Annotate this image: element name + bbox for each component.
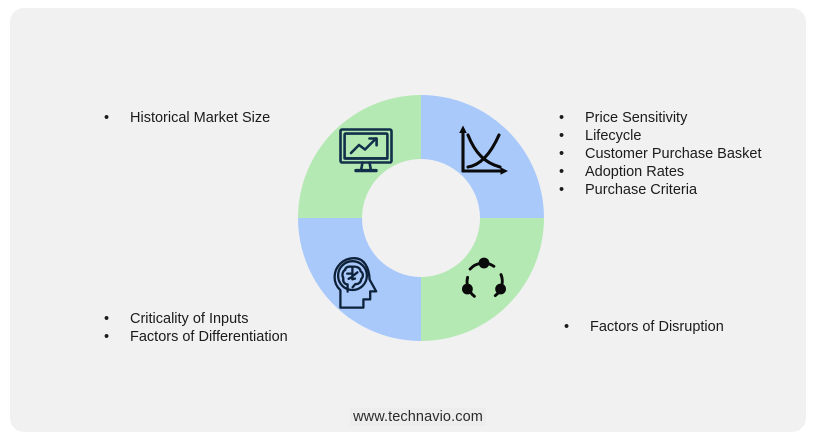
callout-top-left: • Historical Market Size xyxy=(104,110,270,128)
list-item-label: Lifecycle xyxy=(585,128,641,144)
list-item-label: Price Sensitivity xyxy=(585,110,687,126)
list-item: • Customer Purchase Basket xyxy=(559,146,762,164)
watermark-text: www.technavio.com xyxy=(350,408,486,426)
donut-chart xyxy=(298,95,544,341)
bullet-icon: • xyxy=(104,329,114,347)
donut-segment-bottom-left xyxy=(298,218,421,341)
infographic-canvas: • Historical Market Size • Price Sensiti… xyxy=(0,0,816,439)
bullet-icon: • xyxy=(104,311,114,329)
list-item: • Factors of Differentiation xyxy=(104,329,288,347)
donut-segment-bottom-right xyxy=(421,218,544,341)
list-item: • Adoption Rates xyxy=(559,164,762,182)
list-item: • Purchase Criteria xyxy=(559,182,762,200)
callout-bottom-right: • Factors of Disruption xyxy=(564,319,724,337)
callout-bottom-left: • Criticality of Inputs • Factors of Dif… xyxy=(104,311,288,347)
infographic-card: • Historical Market Size • Price Sensiti… xyxy=(10,8,806,432)
list-item: • Factors of Disruption xyxy=(564,319,724,337)
list-item: • Lifecycle xyxy=(559,128,762,146)
bullet-icon: • xyxy=(564,319,574,337)
bullet-icon: • xyxy=(559,110,569,128)
list-item-label: Customer Purchase Basket xyxy=(585,146,762,162)
list-item-label: Historical Market Size xyxy=(130,110,270,126)
bullet-icon: • xyxy=(559,182,569,200)
list-item-label: Purchase Criteria xyxy=(585,182,697,198)
bullet-icon: • xyxy=(104,110,114,128)
list-item-label: Adoption Rates xyxy=(585,164,684,180)
list-item-label: Criticality of Inputs xyxy=(130,311,248,327)
list-item: • Historical Market Size xyxy=(104,110,270,128)
donut-segment-top-right xyxy=(421,95,544,218)
callout-top-right: • Price Sensitivity • Lifecycle • Custom… xyxy=(559,110,762,200)
list-item: • Criticality of Inputs xyxy=(104,311,288,329)
list-item: • Price Sensitivity xyxy=(559,110,762,128)
list-item-label: Factors of Disruption xyxy=(590,319,724,335)
bullet-icon: • xyxy=(559,146,569,164)
donut-segment-top-left xyxy=(298,95,421,218)
bullet-icon: • xyxy=(559,164,569,182)
bullet-icon: • xyxy=(559,128,569,146)
list-item-label: Factors of Differentiation xyxy=(130,329,288,345)
footer: www.technavio.com xyxy=(10,408,816,426)
